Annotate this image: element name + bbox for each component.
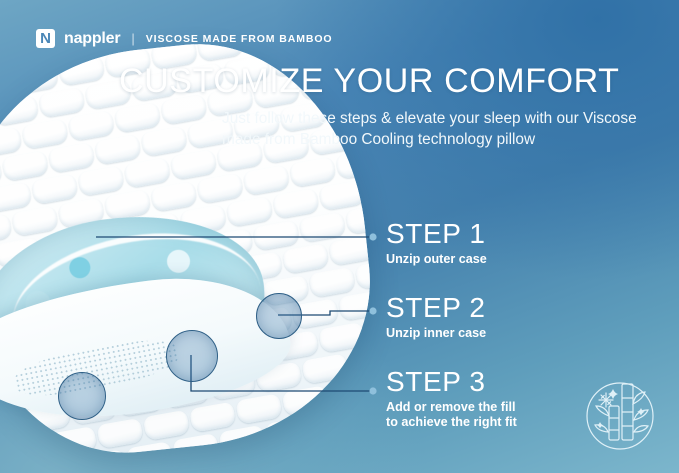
step-1-title: STEP 1: [386, 219, 487, 249]
connector-dot-step-1: [369, 233, 376, 240]
brand-logo-icon: N: [36, 29, 55, 48]
step-3-description: Add or remove the fillto achieve the rig…: [386, 400, 517, 430]
connector-dot-step-3: [369, 387, 376, 394]
detail-marker-zipper: [58, 372, 106, 420]
step-2-title: STEP 2: [386, 293, 486, 323]
detail-marker-inner-case: [256, 293, 302, 339]
step-2-description: Unzip inner case: [386, 326, 486, 341]
page-title: CUSTOMIZE YOUR COMFORT: [119, 62, 620, 101]
connector-dot-step-2: [369, 307, 376, 314]
infographic-canvas: bamboo N nappler | VISCOSE MADE FROM BAM…: [0, 0, 679, 473]
header-divider: |: [131, 31, 134, 46]
detail-marker-fill: [166, 330, 218, 382]
step-item-1: STEP 1 Unzip outer case: [386, 219, 487, 267]
brand-name: nappler: [64, 30, 120, 48]
page-subtitle: Just follow these steps & elevate your s…: [222, 108, 642, 150]
brand-header: N nappler | VISCOSE MADE FROM BAMBOO: [36, 29, 332, 48]
step-1-description: Unzip outer case: [386, 252, 487, 267]
connector-line-step-2-elbow: [191, 355, 372, 391]
step-item-2: STEP 2 Unzip inner case: [386, 293, 486, 341]
step-item-3: STEP 3 Add or remove the fillto achieve …: [386, 367, 517, 430]
brand-tagline: VISCOSE MADE FROM BAMBOO: [146, 33, 333, 45]
bamboo-cooling-badge-icon: [578, 374, 662, 458]
step-3-title: STEP 3: [386, 367, 517, 397]
